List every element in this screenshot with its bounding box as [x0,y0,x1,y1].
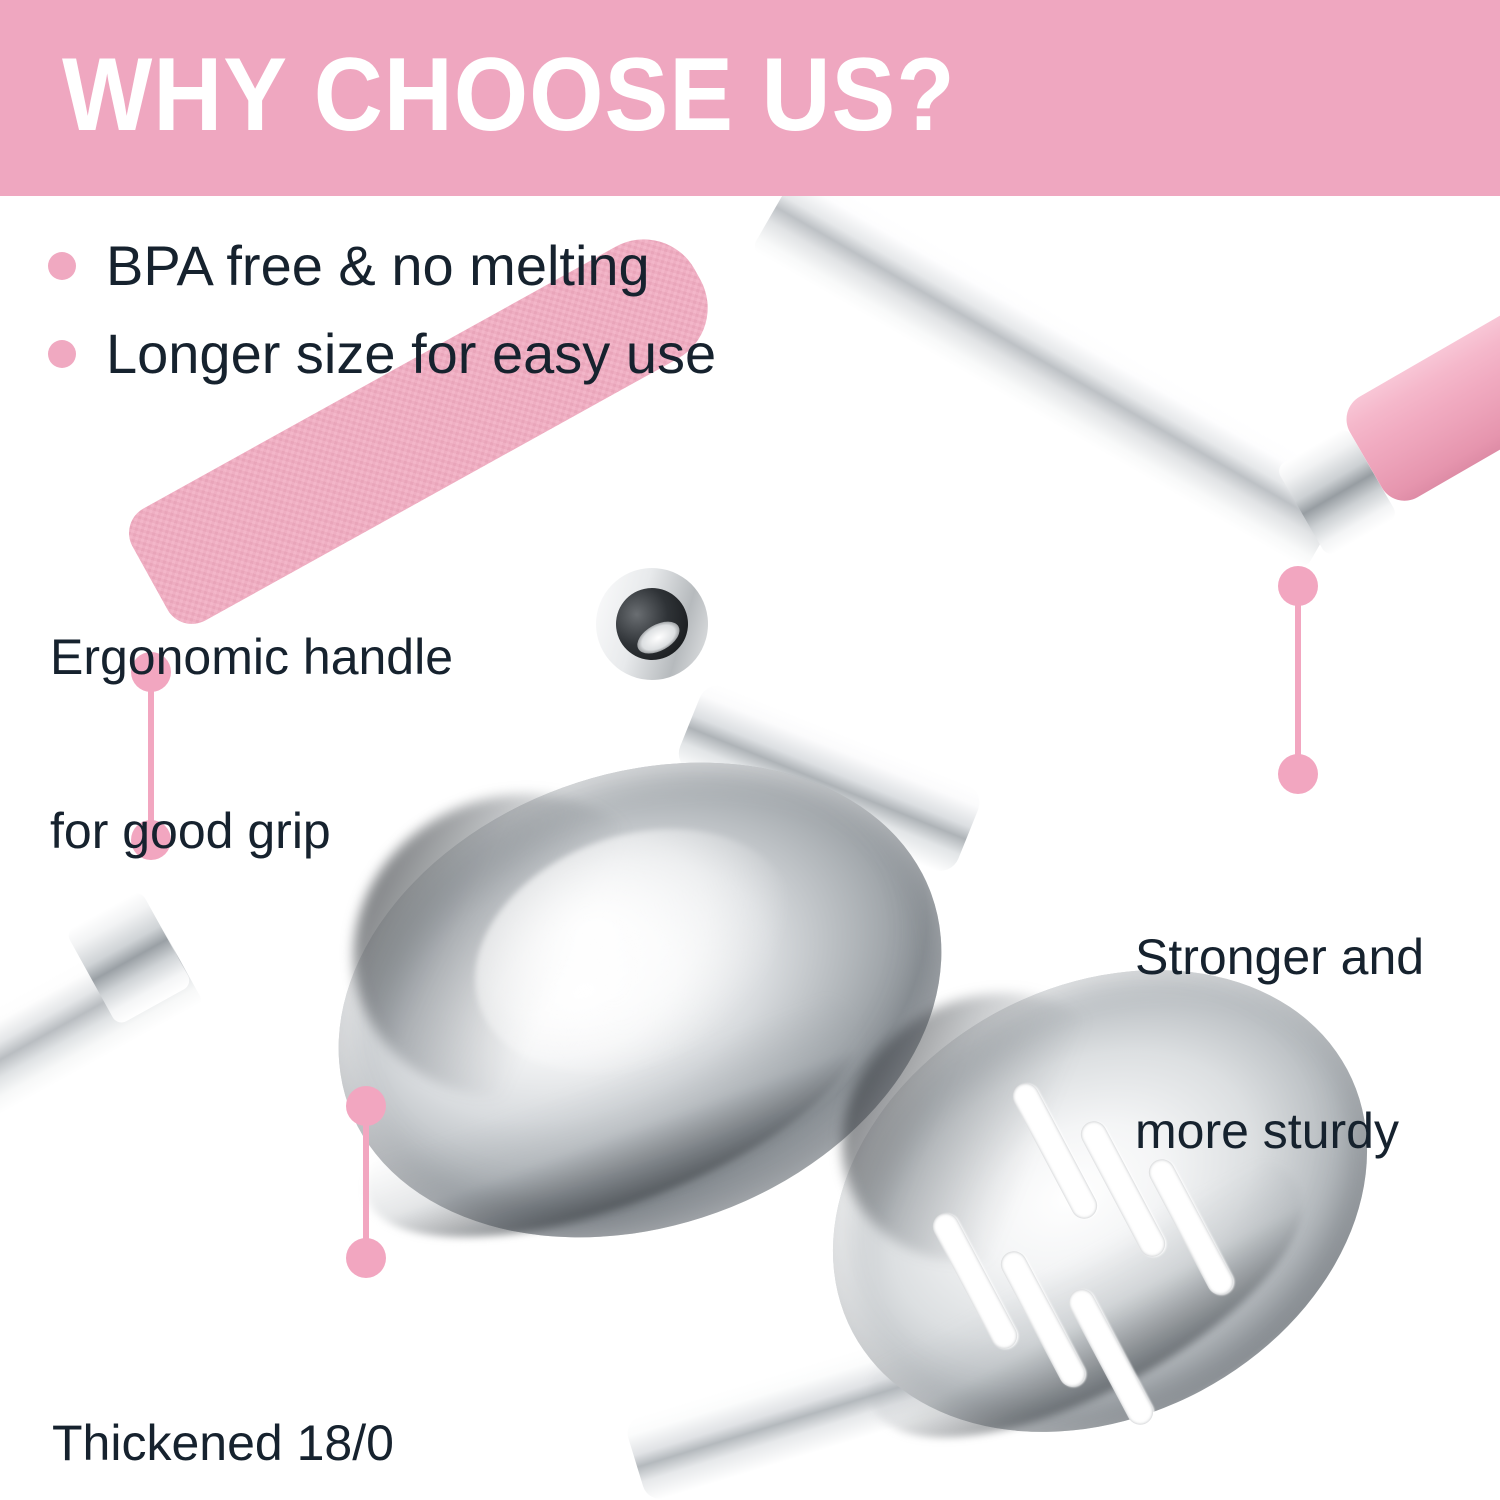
callout-line-stronger-sturdy [1278,566,1318,794]
annotation-line-2: more sturdy [1135,1102,1424,1160]
callout-stem [1295,584,1301,776]
annotation-line-1: Ergonomic handle [50,628,453,686]
dot-icon [48,252,76,280]
callout-line-thickened-steel [346,1086,386,1278]
annotation-line-1: Thickened 18/0 [52,1414,394,1472]
list-item-label: Longer size for easy use [106,324,716,384]
annotation-thickened-steel: Thickened 18/0 stainless steel [52,1298,394,1500]
list-item: BPA free & no melting [48,222,948,310]
page-title: WHY CHOOSE US? [62,40,956,150]
header-banner: WHY CHOOSE US? [0,0,1500,196]
callout-stem [363,1104,369,1260]
dot-icon [48,340,76,368]
annotation-line-1: Stronger and [1135,928,1424,986]
annotation-ergonomic-handle: Ergonomic handle for good grip [50,512,453,976]
annotation-line-2: for good grip [50,802,453,860]
list-item-label: BPA free & no melting [106,236,650,296]
list-item: Longer size for easy use [48,310,948,398]
callout-dot-icon [346,1238,386,1278]
annotation-stronger-sturdy: Stronger and more sturdy [1135,812,1424,1276]
infographic-canvas: WHY CHOOSE US? [0,0,1500,1500]
callout-dot-icon [1278,754,1318,794]
benefits-list: BPA free & no melting Longer size for ea… [48,222,948,398]
